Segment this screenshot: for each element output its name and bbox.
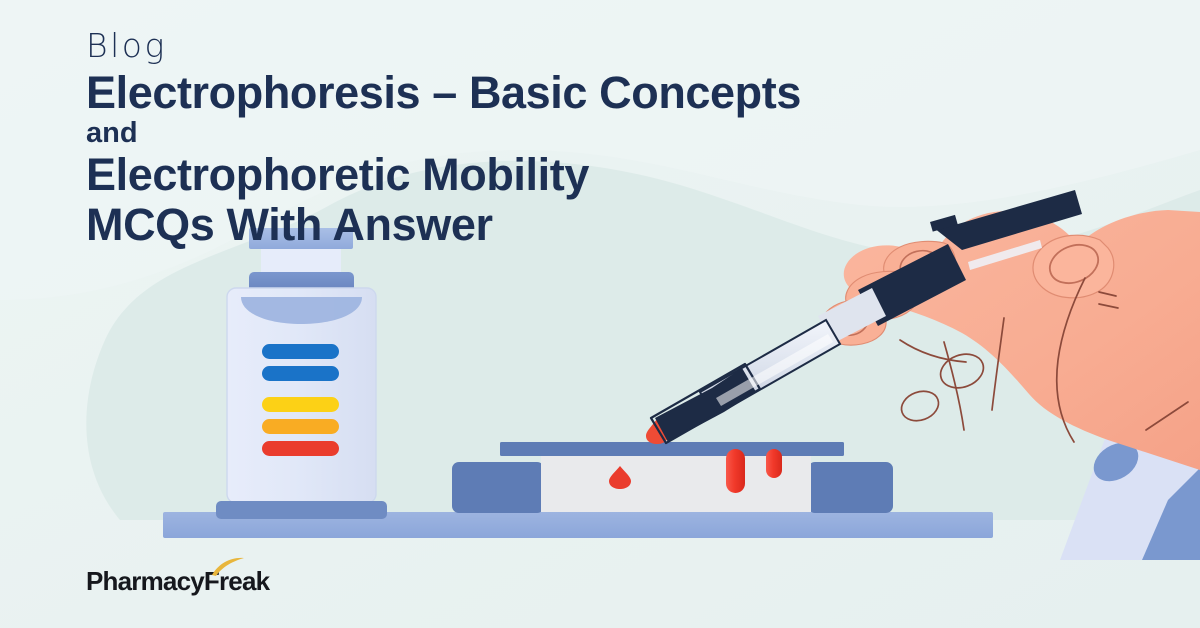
- gel-tray-assembly: [452, 442, 893, 513]
- gel-tray-lid: [500, 442, 844, 456]
- band-orange: [262, 419, 339, 434]
- knuckle-line-2: [897, 386, 942, 425]
- electrophoresis-tank: [216, 228, 387, 519]
- page-title-line-2: and: [86, 116, 1116, 150]
- gel-well-2: [766, 449, 782, 478]
- band-yellow: [262, 397, 339, 412]
- blog-banner: Blog Electrophoresis – Basic Concepts an…: [0, 0, 1200, 628]
- brand-logo[interactable]: PharmacyFreak: [86, 566, 269, 597]
- page-title-line-4: MCQs With Answer: [86, 201, 1116, 248]
- band-blue-2: [262, 366, 339, 381]
- tank-base: [216, 501, 387, 519]
- band-blue-1: [262, 344, 339, 359]
- brand-logo-text: PharmacyFreak: [86, 566, 269, 597]
- pipette-tip: [655, 368, 756, 442]
- gel-tray-left-riser: [452, 462, 544, 513]
- kicker-label: Blog: [86, 26, 1116, 66]
- gel-tray-right-riser: [808, 462, 893, 513]
- knuckle-line-1: [936, 348, 988, 393]
- page-title-line-3: Electrophoretic Mobility: [86, 151, 1116, 198]
- band-red: [262, 441, 339, 456]
- heading-block: Blog Electrophoresis – Basic Concepts an…: [86, 26, 1116, 248]
- page-title-line-1: Electrophoresis – Basic Concepts: [86, 69, 1116, 116]
- gel-well-1: [726, 449, 745, 493]
